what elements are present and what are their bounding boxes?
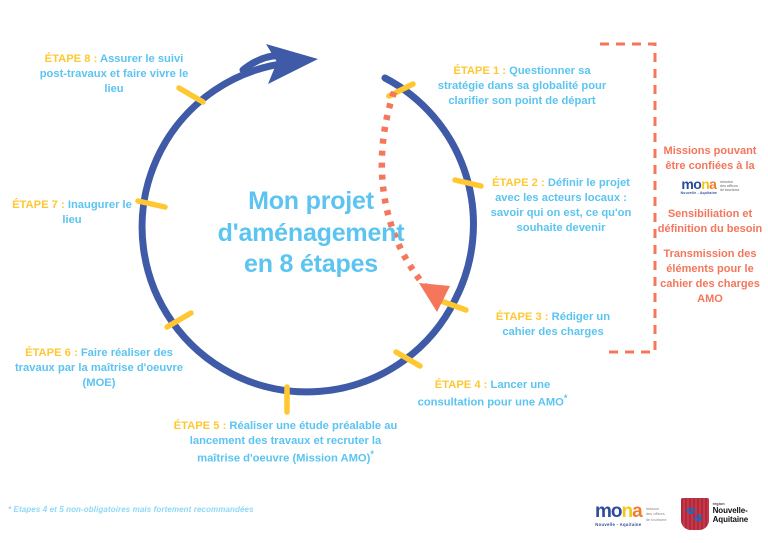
- step-number-8: ÉTAPE 8 :: [45, 53, 100, 65]
- step-label-etape-2: ÉTAPE 2 : Définir le projet avec les act…: [486, 176, 636, 236]
- center-title-line-1: Mon projet: [186, 186, 436, 218]
- step-number-6: ÉTAPE 6 :: [25, 347, 81, 359]
- mona-letter-o-footer: o: [611, 501, 622, 522]
- step-label-etape-6: ÉTAPE 6 : Faire réaliser des travaux par…: [4, 346, 194, 391]
- mona-letter-n-footer: n: [622, 501, 633, 522]
- missions-heading-line-1: Missions pouvant: [652, 144, 768, 159]
- mona-logo-inline: mona Nouvelle - Aquitaine mission des of…: [652, 177, 768, 196]
- mona-tagline-footer-l2: des offices: [646, 511, 667, 516]
- mona-letters-inline: mona: [681, 177, 716, 191]
- missions-heading: Missions pouvant être confiées à la mona…: [652, 144, 768, 196]
- nouvelle-aquitaine-text: région Nouvelle- Aquitaine: [713, 503, 749, 525]
- mona-wordmark-footer: mona Nouvelle - Aquitaine: [595, 502, 642, 527]
- step-number-2: ÉTAPE 2 :: [492, 177, 548, 189]
- footnote-text: Etapes 4 et 5 non-obligatoires mais fort…: [14, 505, 254, 514]
- red-arrowhead-icon: [419, 283, 450, 312]
- mona-tagline-inline: mission des offices de tourisme: [720, 180, 739, 193]
- missions-panel: Missions pouvant être confiées à la mona…: [652, 144, 768, 307]
- mission-item-1: Sensibiliation et définition du besoin: [652, 207, 768, 237]
- mona-letter-m-footer: m: [595, 501, 611, 522]
- step-label-etape-5: ÉTAPE 5 : Réaliser une étude préalable a…: [173, 419, 398, 466]
- mona-letter-n-inline: n: [701, 176, 709, 192]
- center-title: Mon projet d'aménagement en 8 étapes: [186, 186, 436, 281]
- footnote: * Etapes 4 et 5 non-obligatoires mais fo…: [8, 505, 254, 514]
- center-title-line-3: en 8 étapes: [186, 249, 436, 281]
- mona-subtitle-inline: Nouvelle - Aquitaine: [681, 191, 717, 196]
- mona-logo-footer: mona Nouvelle - Aquitaine mission des of…: [595, 502, 667, 527]
- step-star-5: *: [370, 449, 374, 459]
- step-number-5: ÉTAPE 5 :: [174, 420, 230, 432]
- step-star-4: *: [564, 393, 568, 403]
- step-text-7: Inaugurer le lieu: [62, 199, 132, 226]
- step-label-etape-1: ÉTAPE 1 : Questionner sa stratégie dans …: [432, 64, 612, 109]
- step-label-etape-4: ÉTAPE 4 : Lancer une consultation pour u…: [410, 378, 575, 411]
- step-number-1: ÉTAPE 1 :: [453, 65, 509, 77]
- step-label-etape-7: ÉTAPE 7 : Inaugurer le lieu: [2, 198, 142, 228]
- mona-wordmark-inline: mona Nouvelle - Aquitaine: [681, 177, 717, 196]
- footnote-star: *: [8, 505, 11, 514]
- mona-letter-a-inline: a: [709, 176, 716, 192]
- mona-letters-footer: mona: [595, 502, 642, 521]
- step-label-etape-3: ÉTAPE 3 : Rédiger un cahier des charges: [478, 310, 628, 340]
- mona-tagline-inline-l3: de tourisme: [720, 188, 739, 192]
- center-title-line-2: d'aménagement: [186, 218, 436, 250]
- step-number-3: ÉTAPE 3 :: [496, 311, 552, 323]
- footer-logos: mona Nouvelle - Aquitaine mission des of…: [595, 498, 748, 530]
- lion-emblem-icon: 🐾: [681, 498, 709, 530]
- step-label-etape-8: ÉTAPE 8 : Assurer le suivi post-travaux …: [34, 52, 194, 97]
- missions-heading-line-2: être confiées à la: [652, 159, 768, 174]
- nouvelle-aquitaine-logo: 🐾 région Nouvelle- Aquitaine: [681, 498, 749, 530]
- mission-item-2: Transmission des éléments pour le cahier…: [652, 247, 768, 306]
- mona-subtitle-footer: Nouvelle - Aquitaine: [595, 522, 641, 527]
- na-name-line-2: Aquitaine: [713, 516, 749, 525]
- tick-7: [455, 180, 481, 186]
- mona-letter-a-footer: a: [632, 501, 642, 522]
- mona-tagline-footer: mission des offices de tourisme: [646, 506, 667, 522]
- mona-tagline-footer-l3: de tourisme: [646, 517, 667, 522]
- step-number-4: ÉTAPE 4 :: [435, 379, 491, 391]
- mona-letter-m-inline: m: [681, 176, 693, 192]
- step-number-7: ÉTAPE 7 :: [12, 199, 68, 211]
- diagram-canvas: Mon projet d'aménagement en 8 étapes ÉTA…: [0, 0, 768, 543]
